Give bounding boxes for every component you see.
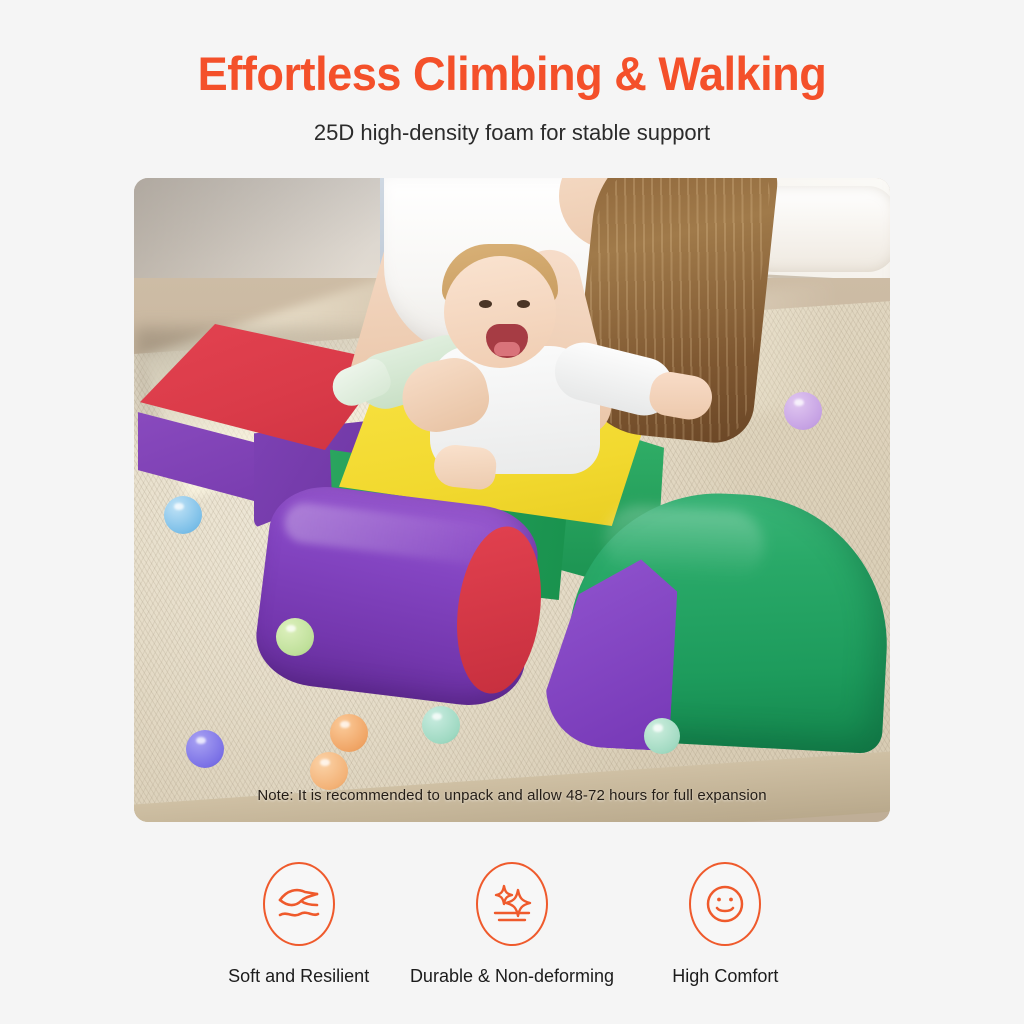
expansion-note: Note: It is recommended to unpack and al… bbox=[134, 787, 890, 804]
play-ball-lightgreen bbox=[276, 618, 314, 656]
hero-photo: Note: It is recommended to unpack and al… bbox=[134, 178, 890, 822]
smiley-comfort-icon bbox=[689, 862, 761, 946]
feature-row: Soft and Resilient Durable & Non-deformi… bbox=[134, 862, 890, 1002]
product-feature-page: Effortless Climbing & Walking 25D high-d… bbox=[0, 0, 1024, 1024]
play-ball-mint-right bbox=[644, 718, 680, 754]
baby-tongue bbox=[494, 342, 520, 356]
baby-eye-right bbox=[517, 300, 530, 308]
play-ball-orange-front bbox=[310, 752, 348, 790]
feature-high-comfort: High Comfort bbox=[619, 862, 832, 987]
feature-durable-non-deforming: Durable & Non-deforming bbox=[405, 862, 618, 987]
feature-label: Soft and Resilient bbox=[228, 966, 369, 987]
play-ball-lightblue bbox=[164, 496, 202, 534]
play-ball-mint bbox=[422, 706, 460, 744]
baby-eye-left bbox=[479, 300, 492, 308]
feature-label: Durable & Non-deforming bbox=[410, 966, 614, 987]
page-subtitle: 25D high-density foam for stable support bbox=[0, 120, 1024, 146]
feature-soft-and-resilient: Soft and Resilient bbox=[192, 862, 405, 987]
play-ball-lavender bbox=[784, 392, 822, 430]
page-title: Effortless Climbing & Walking bbox=[20, 46, 1003, 101]
play-ball-orange-back bbox=[330, 714, 368, 752]
sparkle-durability-icon bbox=[476, 862, 548, 946]
play-ball-periwinkle bbox=[186, 730, 224, 768]
feature-label: High Comfort bbox=[672, 966, 778, 987]
soft-hand-icon bbox=[263, 862, 335, 946]
